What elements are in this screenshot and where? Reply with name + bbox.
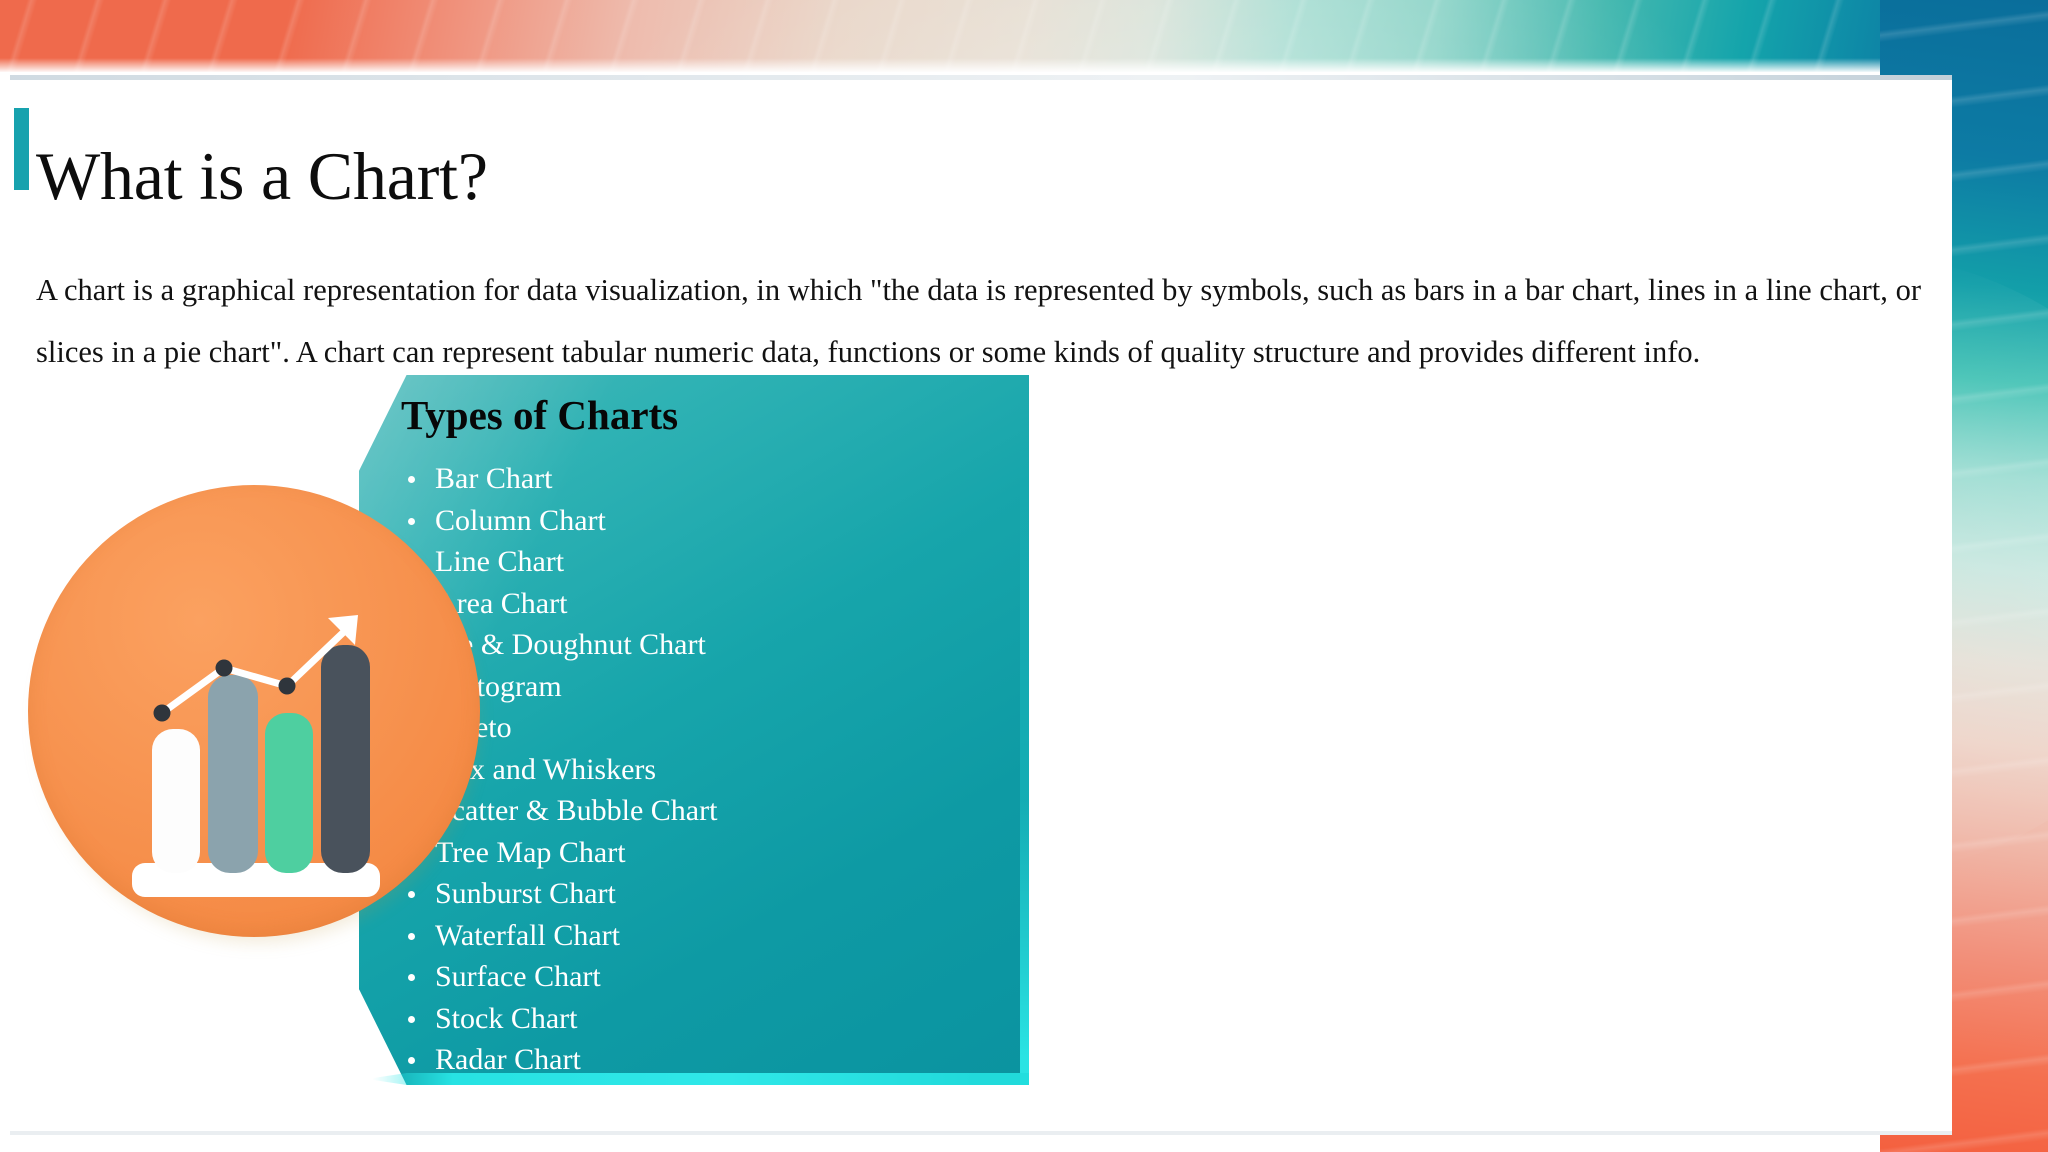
top-ribbon-fade (0, 58, 2048, 72)
list-item: Column Chart (401, 500, 1001, 542)
list-item: Histogram (401, 666, 1001, 708)
content-panel-top-shadow (10, 75, 1952, 80)
list-item: Box and Whiskers (401, 749, 1001, 791)
title-accent-bar (14, 108, 29, 190)
bar-chart-growth-icon (28, 485, 480, 937)
list-item: Tree Map Chart (401, 832, 1001, 874)
slide-canvas: What is a Chart? A chart is a graphical … (0, 0, 2048, 1152)
bullet-icon (408, 1016, 415, 1023)
content-panel-bottom-shadow (10, 1131, 1952, 1135)
bullet-icon (408, 476, 415, 483)
list-item: Line Chart (401, 541, 1001, 583)
list-item: Area Chart (401, 583, 1001, 625)
chart-illustration-badge (28, 485, 488, 945)
chart-types-list: Bar Chart Column Chart Line Chart Area C… (401, 458, 1001, 1081)
list-item-label: Stock Chart (435, 1002, 578, 1035)
list-item: Bar Chart (401, 458, 1001, 500)
bullet-icon (408, 974, 415, 981)
list-item: Pareto (401, 707, 1001, 749)
list-item: Surface Chart (401, 956, 1001, 998)
top-ribbon-decoration (0, 0, 2048, 72)
list-item: Waterfall Chart (401, 915, 1001, 957)
types-panel-heading: Types of Charts (401, 391, 678, 439)
list-item: Radar Chart (401, 1039, 1001, 1081)
list-item: Stock Chart (401, 998, 1001, 1040)
list-item-label: Radar Chart (435, 1043, 581, 1076)
list-item: Sunburst Chart (401, 873, 1001, 915)
list-item-label: Surface Chart (435, 960, 601, 993)
page-title: What is a Chart? (36, 142, 488, 210)
bullet-icon (408, 1057, 415, 1064)
list-item: Pie & Doughnut Chart (401, 624, 1001, 666)
types-panel-right-edge (1020, 375, 1029, 1085)
body-paragraph: A chart is a graphical representation fo… (36, 259, 1921, 383)
list-item: Scatter & Bubble Chart (401, 790, 1001, 832)
